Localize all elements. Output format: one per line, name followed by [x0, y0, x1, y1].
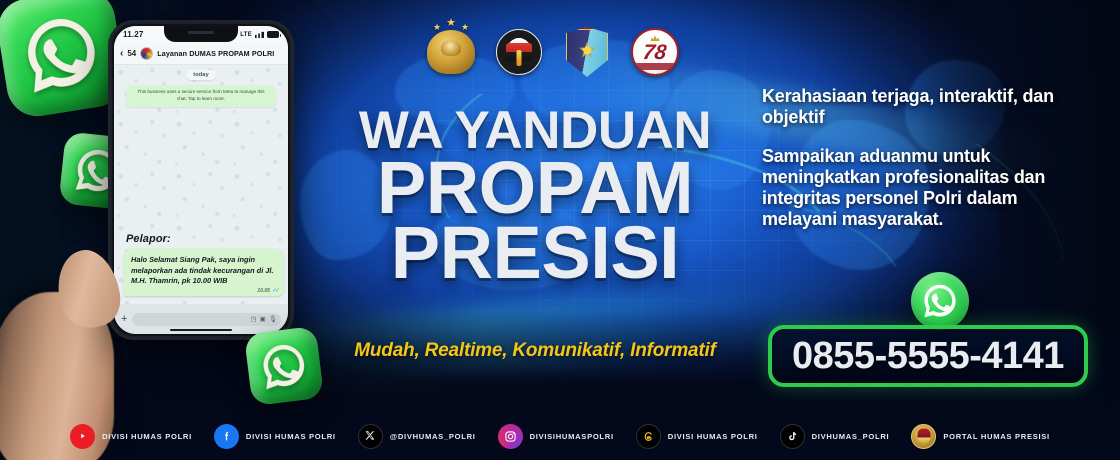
propam-shield-emblem: PROPAM	[561, 24, 613, 80]
phone-mockup: 11.27 LTE ‹ 54 Layanan DUMAS PROPAM POLR…	[108, 20, 294, 340]
instagram-icon[interactable]	[498, 424, 523, 449]
tiktok-icon[interactable]	[780, 424, 805, 449]
social-item-x[interactable]: @DIVHUMAS_POLRI	[358, 424, 476, 449]
unread-count: 54	[127, 49, 136, 58]
social-item-instagram[interactable]: DIVISIHUMASPOLRI	[498, 424, 614, 449]
social-handle: PORTAL HUMAS PRESISI	[943, 432, 1050, 441]
tagline: Mudah, Realtime, Komunikatif, Informatif	[300, 340, 770, 362]
back-chevron-icon[interactable]: ‹	[120, 49, 123, 59]
headline-block: WA YANDUAN PROPAM PRESISI	[300, 108, 770, 285]
meta-security-notice[interactable]: This business uses a secure service from…	[126, 85, 276, 107]
propam-avatar[interactable]	[140, 47, 153, 60]
social-handle: DIVISI HUMAS POLRI	[102, 432, 192, 441]
right-copy-block: Kerahasiaan terjaga, interaktif, dan obj…	[762, 86, 1092, 231]
emblem-row: ★★★ PROPAM 78	[425, 24, 681, 80]
plus-icon[interactable]: +	[121, 314, 127, 325]
network-label: LTE	[240, 32, 252, 38]
battery-icon	[267, 31, 279, 38]
social-handle: DIVISIHUMASPOLRI	[530, 432, 614, 441]
phone-status-bar: 11.27 LTE	[114, 26, 288, 43]
status-time: 11.27	[123, 30, 144, 39]
promo-banner: ★★★ PROPAM 78 11.27	[0, 0, 1120, 460]
message-input[interactable]: ◳ ▣ 🎙	[132, 313, 281, 326]
social-handle: DIVISI HUMAS POLRI	[246, 432, 336, 441]
chat-header[interactable]: ‹ 54 Layanan DUMAS PROPAM POLRI	[114, 43, 288, 65]
social-item-tiktok[interactable]: DIVHUMAS_POLRI	[780, 424, 890, 449]
chat-message-text: Halo Selamat Siang Pak, saya ingin melap…	[131, 255, 277, 287]
sticker-icon[interactable]: ◳	[250, 315, 256, 323]
camera-icon[interactable]: ▣	[260, 315, 266, 323]
youtube-icon[interactable]	[70, 424, 95, 449]
right-copy-body: Sampaikan aduanmu untuk meningkatkan pro…	[762, 146, 1092, 231]
phone-notch	[164, 26, 238, 42]
chat-body: today This business uses a secure servic…	[114, 65, 288, 304]
home-indicator	[170, 329, 232, 331]
humas-polri-emblem	[493, 24, 545, 80]
day-divider: today	[186, 70, 215, 80]
right-copy-heading: Kerahasiaan terjaga, interaktif, dan obj…	[762, 86, 1092, 128]
headline-line-3: PRESISI	[300, 221, 770, 285]
message-time: 10.05	[257, 288, 270, 294]
social-handle: DIVISI HUMAS POLRI	[668, 432, 758, 441]
mic-icon[interactable]: 🎙	[269, 315, 277, 323]
phone-number-box[interactable]: 0855-5555-4141	[768, 325, 1088, 387]
social-handle: @DIVHUMAS_POLRI	[390, 432, 476, 441]
chat-input-bar[interactable]: + ◳ ▣ 🎙	[114, 304, 288, 334]
sender-label: Pelapor:	[126, 233, 171, 245]
chat-title: Layanan DUMAS PROPAM POLRI	[157, 49, 274, 58]
hut-78-emblem: 78	[629, 24, 681, 80]
social-media-bar: DIVISI HUMAS POLRI DIVISI HUMAS POLRI @D…	[0, 412, 1120, 460]
whatsapp-icon[interactable]	[911, 272, 969, 330]
polri-portal-icon[interactable]	[911, 424, 936, 449]
phone-screen: 11.27 LTE ‹ 54 Layanan DUMAS PROPAM POLR…	[114, 26, 288, 334]
whatsapp-3d-logo-small	[244, 326, 324, 406]
facebook-icon[interactable]	[214, 424, 239, 449]
read-receipt-icon: ✓✓	[272, 288, 278, 294]
signal-icon	[255, 31, 264, 38]
ribbon-band	[633, 63, 677, 70]
threads-icon[interactable]	[636, 424, 661, 449]
social-item-polri-portal[interactable]: PORTAL HUMAS PRESISI	[911, 424, 1050, 449]
anniversary-number: 78	[642, 42, 668, 63]
tribrata-polri-emblem: ★★★	[425, 24, 477, 80]
social-item-youtube[interactable]: DIVISI HUMAS POLRI	[70, 424, 192, 449]
x-twitter-icon[interactable]	[358, 424, 383, 449]
social-item-facebook[interactable]: DIVISI HUMAS POLRI	[214, 424, 336, 449]
message-meta: 10.05 ✓✓	[257, 288, 278, 294]
social-item-threads[interactable]: DIVISI HUMAS POLRI	[636, 424, 758, 449]
social-handle: DIVHUMAS_POLRI	[812, 432, 890, 441]
chat-message-bubble: Halo Selamat Siang Pak, saya ingin melap…	[124, 249, 284, 296]
headline-line-2: PROPAM	[300, 156, 770, 220]
phone-number: 0855-5555-4141	[792, 335, 1064, 378]
